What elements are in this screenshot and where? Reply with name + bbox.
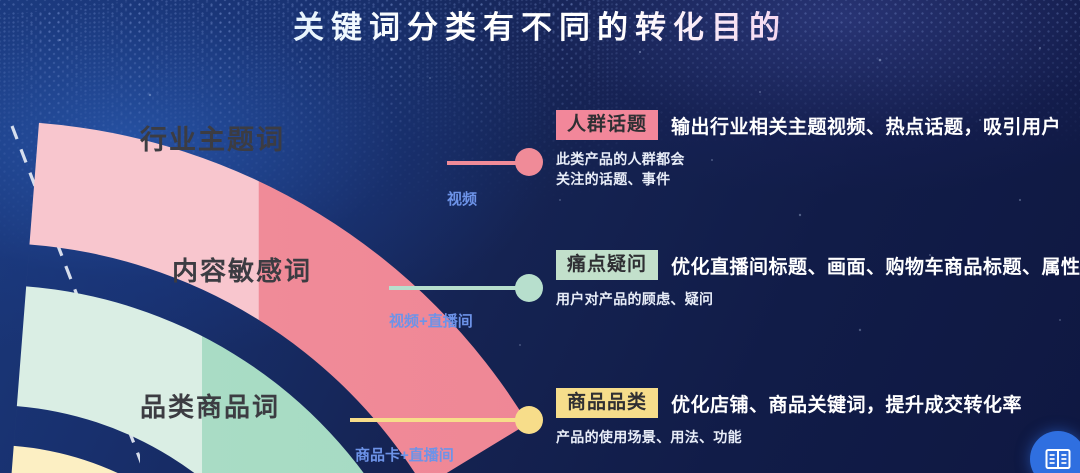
connector-dot-1[interactable]: [515, 274, 543, 302]
detail-row-0-top: 人群话题 输出行业相关主题视频、热点话题，吸引用户: [556, 110, 1061, 140]
slide-canvas: 关键词分类有不同的转化目的: [0, 0, 1080, 473]
detail-subline-0: 此类产品的人群都会 关注的话题、事件: [556, 149, 1061, 190]
connector-caption-1: 视频+直播间: [389, 310, 473, 331]
detail-headline-2: 优化店铺、商品关键词，提升成交转化率: [671, 390, 1022, 417]
detail-row-2-top: 商品品类 优化店铺、商品关键词，提升成交转化率: [556, 388, 1022, 418]
detail-headline-0: 输出行业相关主题视频、热点话题，吸引用户: [671, 112, 1061, 139]
connector-dot-0[interactable]: [515, 148, 543, 176]
connector-caption-0: 视频: [447, 188, 477, 209]
detail-subline-2: 产品的使用场景、用法、功能: [556, 427, 1022, 447]
connector-dot-2[interactable]: [515, 406, 543, 434]
detail-row-2: 商品品类 优化店铺、商品关键词，提升成交转化率 产品的使用场景、用法、功能: [556, 388, 1022, 447]
detail-subline-1: 用户对产品的顾虑、疑问: [556, 289, 1080, 309]
detail-badge-0[interactable]: 人群话题: [556, 110, 658, 140]
connector-caption-2: 商品卡+直播间: [355, 444, 454, 465]
detail-row-1-top: 痛点疑问 优化直播间标题、画面、购物车商品标题、属性: [556, 250, 1080, 280]
detail-row-0: 人群话题 输出行业相关主题视频、热点话题，吸引用户 此类产品的人群都会 关注的话…: [556, 110, 1061, 190]
detail-row-1: 痛点疑问 优化直播间标题、画面、购物车商品标题、属性 用户对产品的顾虑、疑问: [556, 250, 1080, 309]
detail-badge-2[interactable]: 商品品类: [556, 388, 658, 418]
detail-badge-1[interactable]: 痛点疑问: [556, 250, 658, 280]
book-icon: [1045, 448, 1071, 470]
detail-headline-1: 优化直播间标题、画面、购物车商品标题、属性: [671, 252, 1080, 279]
